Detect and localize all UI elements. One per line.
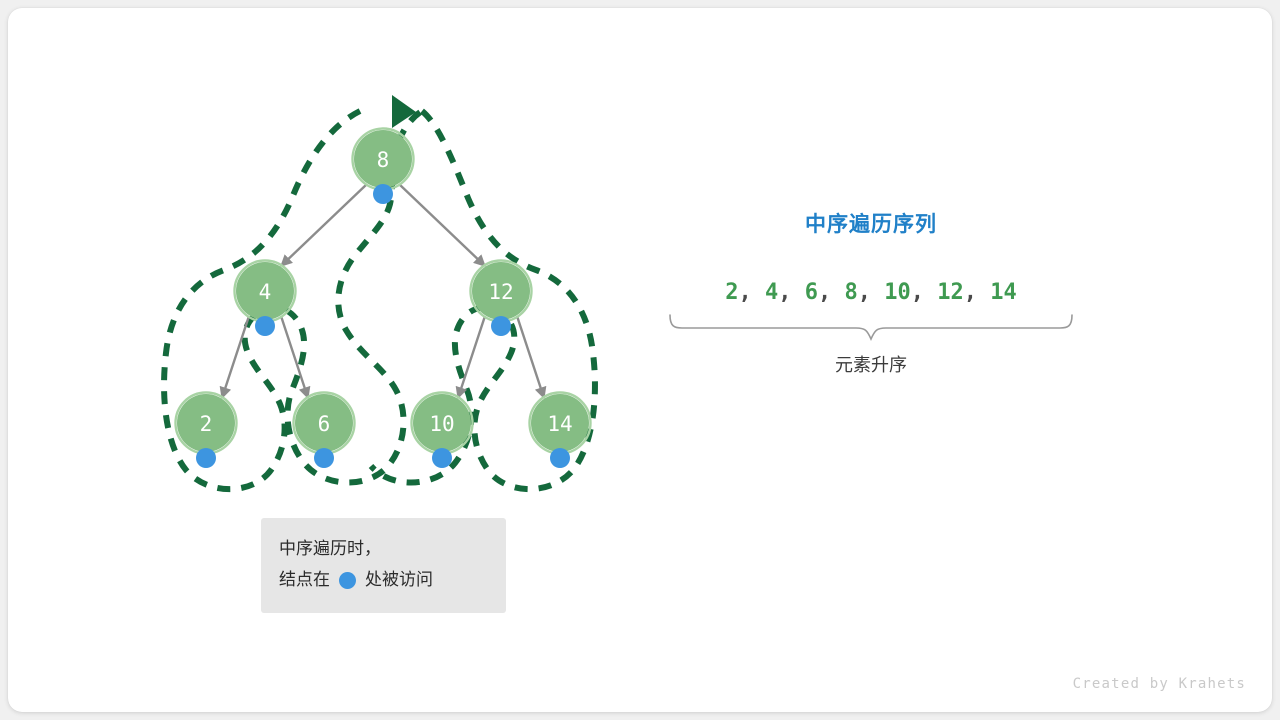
node-label: 14	[547, 412, 572, 436]
node-label: 10	[429, 412, 454, 436]
sequence-separator: ,	[858, 280, 885, 305]
node-label: 8	[377, 148, 390, 172]
node-label: 4	[259, 280, 272, 304]
diagram-stage: 8 4 12 2	[8, 8, 1272, 712]
sequence-value: 12	[937, 280, 964, 305]
visit-dot	[491, 316, 511, 336]
legend-line-2: 结点在 处被访问	[279, 565, 506, 596]
legend-box: 中序遍历时， 结点在 处被访问	[261, 518, 506, 613]
sequence-separator: ,	[911, 280, 938, 305]
tree-node-2[interactable]: 2	[176, 393, 237, 469]
tree-node-8[interactable]: 8	[353, 129, 414, 205]
tree-node-14[interactable]: 14	[530, 393, 591, 469]
visit-dot	[432, 448, 452, 468]
sequence-value: 4	[765, 280, 778, 305]
node-label: 2	[200, 412, 213, 436]
sequence-separator: ,	[818, 280, 845, 305]
credit-text: Created by Krahets	[1073, 676, 1246, 692]
sequence-values: 2, 4, 6, 8, 10, 12, 14	[656, 280, 1086, 305]
tree-node-10[interactable]: 10	[412, 393, 473, 469]
brace-wrapper	[656, 313, 1086, 347]
sequence-panel: 中序遍历序列 2, 4, 6, 8, 10, 12, 14 元素升序	[656, 208, 1086, 377]
tree-node-12[interactable]: 12	[471, 261, 532, 337]
sequence-value: 14	[990, 280, 1017, 305]
tree-node-4[interactable]: 4	[235, 261, 296, 337]
node-label: 12	[488, 280, 513, 304]
figure-card: 8 4 12 2	[8, 8, 1272, 712]
visit-dot	[255, 316, 275, 336]
visit-dot	[314, 448, 334, 468]
curly-brace-icon	[656, 313, 1086, 347]
sequence-value: 6	[805, 280, 818, 305]
sequence-separator: ,	[778, 280, 805, 305]
sequence-separator: ,	[739, 280, 766, 305]
visit-dot	[550, 448, 570, 468]
sequence-title: 中序遍历序列	[656, 208, 1086, 238]
node-label: 6	[318, 412, 331, 436]
sequence-value: 10	[884, 280, 911, 305]
traversal-cursor-icon	[392, 95, 416, 128]
sequence-value: 8	[845, 280, 858, 305]
legend-text-after: 处被访问	[365, 565, 433, 596]
brace-label: 元素升序	[656, 351, 1086, 377]
sequence-separator: ,	[964, 280, 991, 305]
legend-line-1: 中序遍历时，	[279, 534, 506, 565]
visit-dot	[373, 184, 393, 204]
visit-dot	[196, 448, 216, 468]
tree-node-6[interactable]: 6	[294, 393, 355, 469]
sequence-value: 2	[725, 280, 738, 305]
visit-dot-icon	[339, 572, 356, 589]
legend-text-before: 结点在	[279, 565, 330, 596]
